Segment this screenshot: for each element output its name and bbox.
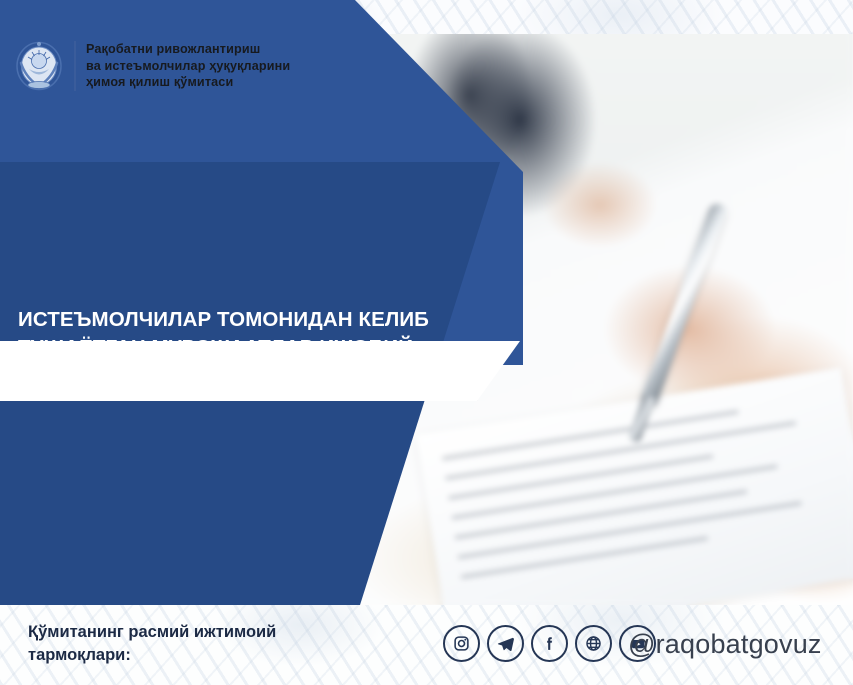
telegram-icon[interactable] — [487, 625, 524, 662]
headline-line-1: ИСТЕЪМОЛЧИЛАР ТОМОНИДАН КЕЛИБ — [18, 306, 518, 334]
footer: Қўмитанинг расмий ижтимоий тармоқлари: — [0, 605, 853, 685]
social-handle[interactable]: @raqobatgovuz — [628, 629, 822, 660]
social-networks-label: Қўмитанинг расмий ижтимоий тармоқлари: — [28, 621, 276, 667]
headline: ИСТЕЪМОЛЧИЛАР ТОМОНИДАН КЕЛИБ ТУШАЁТГАН … — [18, 306, 518, 390]
logo-lockup: Рақобатни ривожлантириш ва истеъмолчилар… — [14, 40, 290, 92]
headline-line-2: ТУШАЁТГАН МУРОЖААТЛАР ИЖОБИЙ — [18, 334, 518, 362]
organization-name: Рақобатни ривожлантириш ва истеъмолчилар… — [86, 41, 290, 92]
instagram-icon[interactable] — [443, 625, 480, 662]
announcement-poster: Рақобатни ривожлантириш ва истеъмолчилар… — [0, 0, 853, 685]
logo-divider — [74, 41, 76, 91]
website-globe-icon[interactable] — [575, 625, 612, 662]
facebook-icon[interactable] — [531, 625, 568, 662]
social-icon-bar — [443, 625, 656, 662]
headline-line-3: ҲАЛ ЭТИЛМОҚДА — [18, 362, 518, 390]
uzbekistan-state-emblem-icon — [14, 40, 64, 92]
